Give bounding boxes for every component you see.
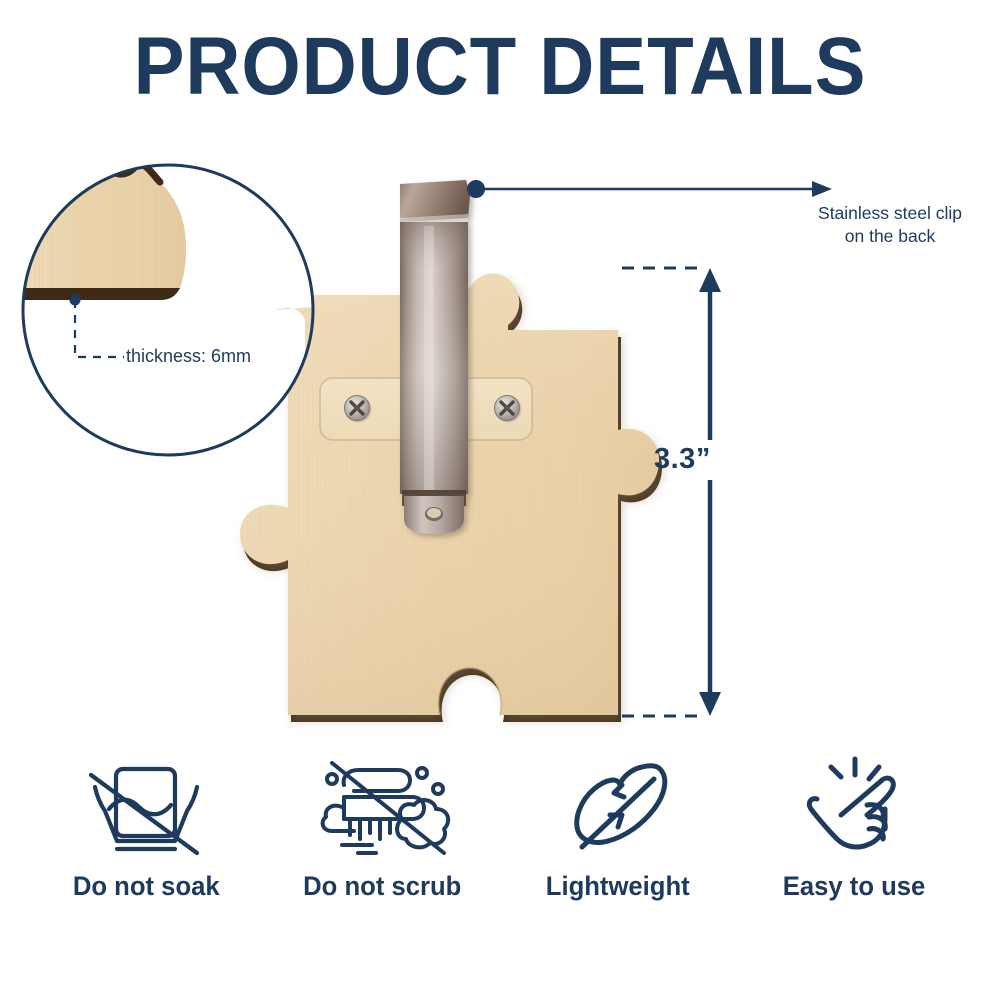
- screw-right: [495, 396, 522, 423]
- thickness-label: thickness: 6mm: [126, 346, 251, 366]
- feature-label: Lightweight: [546, 870, 690, 902]
- feature-label: Do not soak: [73, 870, 220, 902]
- feather-icon: [548, 752, 688, 864]
- feature-label: Do not scrub: [303, 870, 461, 902]
- tap-hand-icon: [789, 752, 919, 864]
- feature-do-not-soak: Do not soak: [30, 752, 262, 902]
- feature-row: Do not soak: [0, 752, 1000, 942]
- feature-do-not-scrub: Do not scrub: [266, 752, 498, 902]
- product-detail-page: PRODUCT DETAILS: [0, 0, 1000, 1000]
- clip-callout-line1: Stainless steel clip: [790, 202, 990, 225]
- height-dimension-label: 3.3”: [654, 444, 711, 474]
- screw-left: [345, 396, 372, 423]
- feature-label: Easy to use: [783, 870, 926, 902]
- clip-callout-label: Stainless steel clip on the back: [790, 202, 990, 248]
- clip-callout-line2: on the back: [790, 225, 990, 248]
- feature-lightweight: Lightweight: [502, 752, 734, 902]
- clip-callout-arrow: [467, 180, 832, 198]
- no-soak-icon: [71, 752, 221, 864]
- no-scrub-icon: [302, 752, 462, 864]
- feature-easy-to-use: Easy to use: [738, 752, 970, 902]
- stainless-steel-clip: [400, 180, 470, 534]
